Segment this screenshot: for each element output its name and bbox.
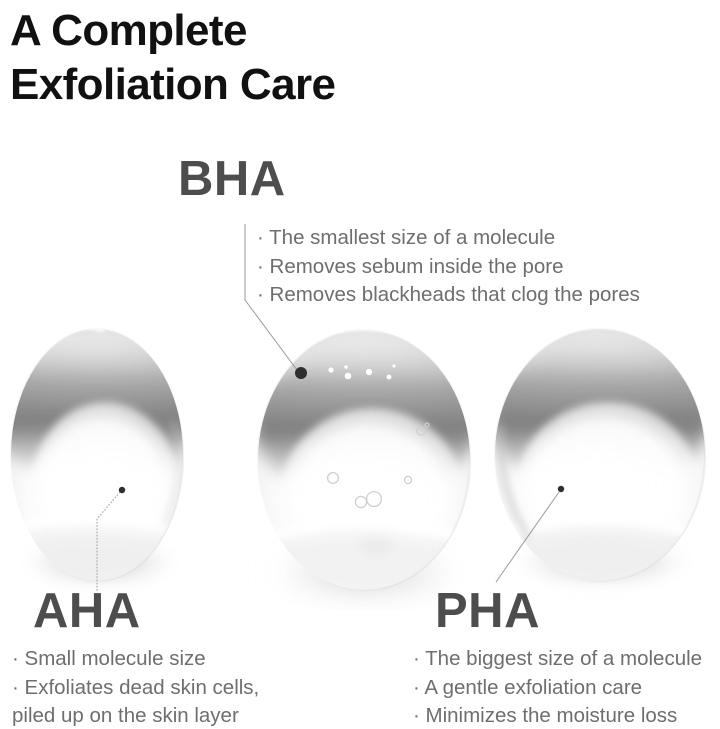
section-bullets-pha: · The biggest size of a molecule · A gen… — [413, 645, 702, 729]
page-title-line-2: Exfoliation Care — [10, 58, 530, 112]
section-title-pha: PHA — [435, 587, 540, 636]
page-title: A Complete Exfoliation Care — [10, 4, 530, 111]
page-title-line-1: A Complete — [10, 4, 530, 58]
pha-bullet-2: · A gentle exfoliation care — [413, 674, 702, 703]
aha-leader-line — [97, 492, 120, 592]
bha-bullet-1: · The smallest size of a molecule — [257, 224, 640, 253]
pha-droplet — [488, 324, 717, 592]
bubble-cluster-inner — [328, 423, 429, 508]
aha-marker-dot — [119, 487, 125, 493]
infographic-page: A Complete Exfoliation Care BHA · The sm… — [0, 0, 720, 729]
bha-bullet-2: · Removes sebum inside the pore — [257, 253, 640, 282]
bha-bullet-3: · Removes blackheads that clog the pores — [257, 281, 640, 310]
aha-bullet-2-cont: piled up on the skin layer — [12, 702, 259, 729]
pha-marker-dot — [558, 486, 564, 492]
aha-bullet-2: · Exfoliates dead skin cells, — [12, 674, 259, 703]
pha-leader-line — [496, 492, 559, 582]
section-title-bha: BHA — [178, 155, 286, 204]
section-bullets-aha: · Small molecule size · Exfoliates dead … — [12, 645, 259, 729]
bubble-cluster-top — [328, 364, 395, 379]
pha-bullet-3: · Minimizes the moisture loss — [413, 702, 702, 729]
aha-bullet-1: · Small molecule size — [12, 645, 259, 674]
droplets-illustration — [0, 300, 720, 610]
bha-marker-dot — [295, 367, 307, 379]
section-title-aha: AHA — [33, 587, 141, 636]
aha-droplet — [0, 326, 198, 592]
section-bullets-bha: · The smallest size of a molecule · Remo… — [257, 224, 640, 310]
pha-bullet-1: · The biggest size of a molecule — [413, 645, 702, 674]
bha-droplet — [250, 327, 485, 600]
